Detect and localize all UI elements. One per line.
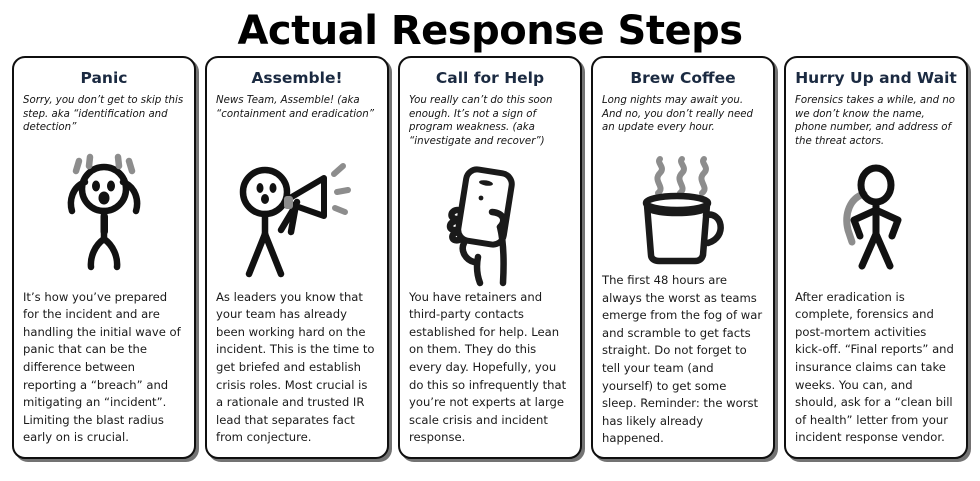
hand-holding-phone-icon — [409, 166, 571, 286]
card-subtitle: You really can’t do this soon enough. It… — [409, 94, 571, 164]
card-body-text: It’s how you’ve prepared for the inciden… — [23, 289, 185, 449]
steaming-coffee-mug-icon — [602, 152, 764, 272]
megaphone-stick-figure-icon — [216, 152, 378, 286]
card-panic: Panic Sorry, you don’t get to skip this … — [12, 56, 196, 459]
card-heading: Assemble! — [216, 68, 378, 88]
card-body-text: After eradication is complete, forensics… — [795, 289, 957, 449]
card-subtitle: Long nights may await you. And no, you d… — [602, 94, 764, 150]
card-subtitle: Sorry, you don’t get to skip this step. … — [23, 94, 185, 150]
card-assemble: Assemble! News Team, Assemble! (aka “con… — [205, 56, 389, 459]
card-call-for-help: Call for Help You really can’t do this s… — [398, 56, 582, 459]
cards-row: Panic Sorry, you don’t get to skip this … — [0, 56, 980, 459]
card-body-text: The first 48 hours are always the worst … — [602, 272, 764, 450]
card-heading: Hurry Up and Wait — [795, 68, 957, 88]
card-body-text: You have retainers and third-party conta… — [409, 289, 571, 449]
card-heading: Panic — [23, 68, 185, 88]
card-hurry-up-and-wait: Hurry Up and Wait Forensics takes a whil… — [784, 56, 968, 459]
waiting-stick-figure-icon — [795, 166, 957, 274]
panicking-stick-figure-icon — [23, 152, 185, 272]
infographic-page: Actual Response Steps Panic Sorry, you d… — [0, 0, 980, 481]
card-subtitle: Forensics takes a while, and no we don’t… — [795, 94, 957, 164]
card-subtitle: News Team, Assemble! (aka “containment a… — [216, 94, 378, 150]
card-body-text: As leaders you know that your team has a… — [216, 289, 378, 449]
page-title: Actual Response Steps — [0, 0, 980, 56]
card-heading: Call for Help — [409, 68, 571, 88]
card-brew-coffee: Brew Coffee Long nights may await you. A… — [591, 56, 775, 459]
card-heading: Brew Coffee — [602, 68, 764, 88]
